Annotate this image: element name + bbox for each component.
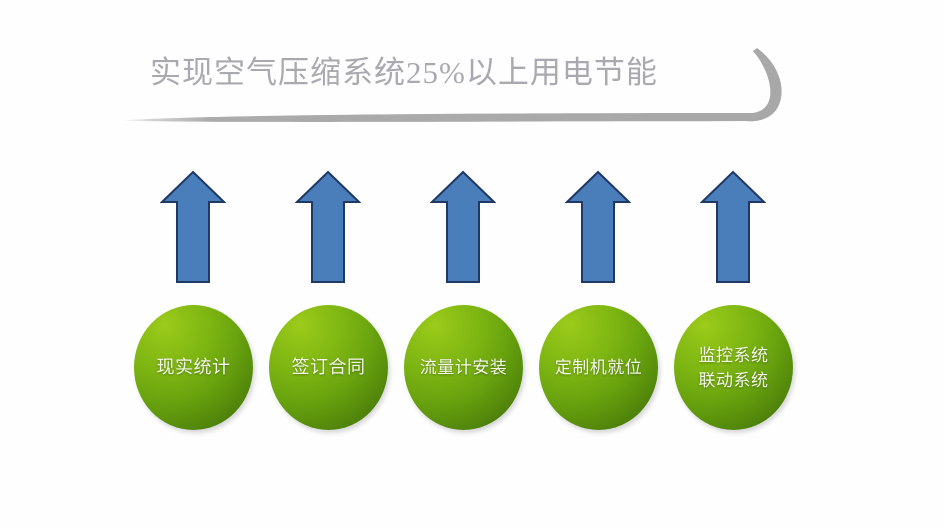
arrow-up-4 [565,170,631,284]
process-node-label: 流量计安装 [414,355,514,380]
arrow-up-icon [162,172,224,282]
process-node-1[interactable]: 现实统计 [134,305,253,430]
title-banner: 实现空气压缩系统25%以上用电节能 [0,0,945,160]
page-title: 实现空气压缩系统25%以上用电节能 [150,49,730,97]
process-node-label: 定制机就位 [549,355,649,380]
arrow-up-icon [432,172,494,282]
process-node-4[interactable]: 定制机就位 [539,305,658,430]
banner-corner-hook [747,48,782,121]
process-node-2[interactable]: 签订合同 [269,305,388,430]
arrow-up-5 [700,170,766,284]
process-node-5[interactable]: 监控系统 联动系统 [674,305,793,430]
arrow-up-icon [297,172,359,282]
arrow-up-3 [430,170,496,284]
process-node-label: 签订合同 [286,355,372,380]
banner-underline [120,113,752,122]
arrow-up-icon [567,172,629,282]
arrow-up-icon [702,172,764,282]
arrow-up-1 [160,170,226,284]
process-node-label: 现实统计 [151,355,237,380]
slide-canvas: 实现空气压缩系统25%以上用电节能 现实统计 签订合同 流量计安装 定制机 [0,0,945,529]
arrow-up-2 [295,170,361,284]
process-node-3[interactable]: 流量计安装 [404,305,523,430]
process-node-label: 监控系统 联动系统 [693,343,775,393]
